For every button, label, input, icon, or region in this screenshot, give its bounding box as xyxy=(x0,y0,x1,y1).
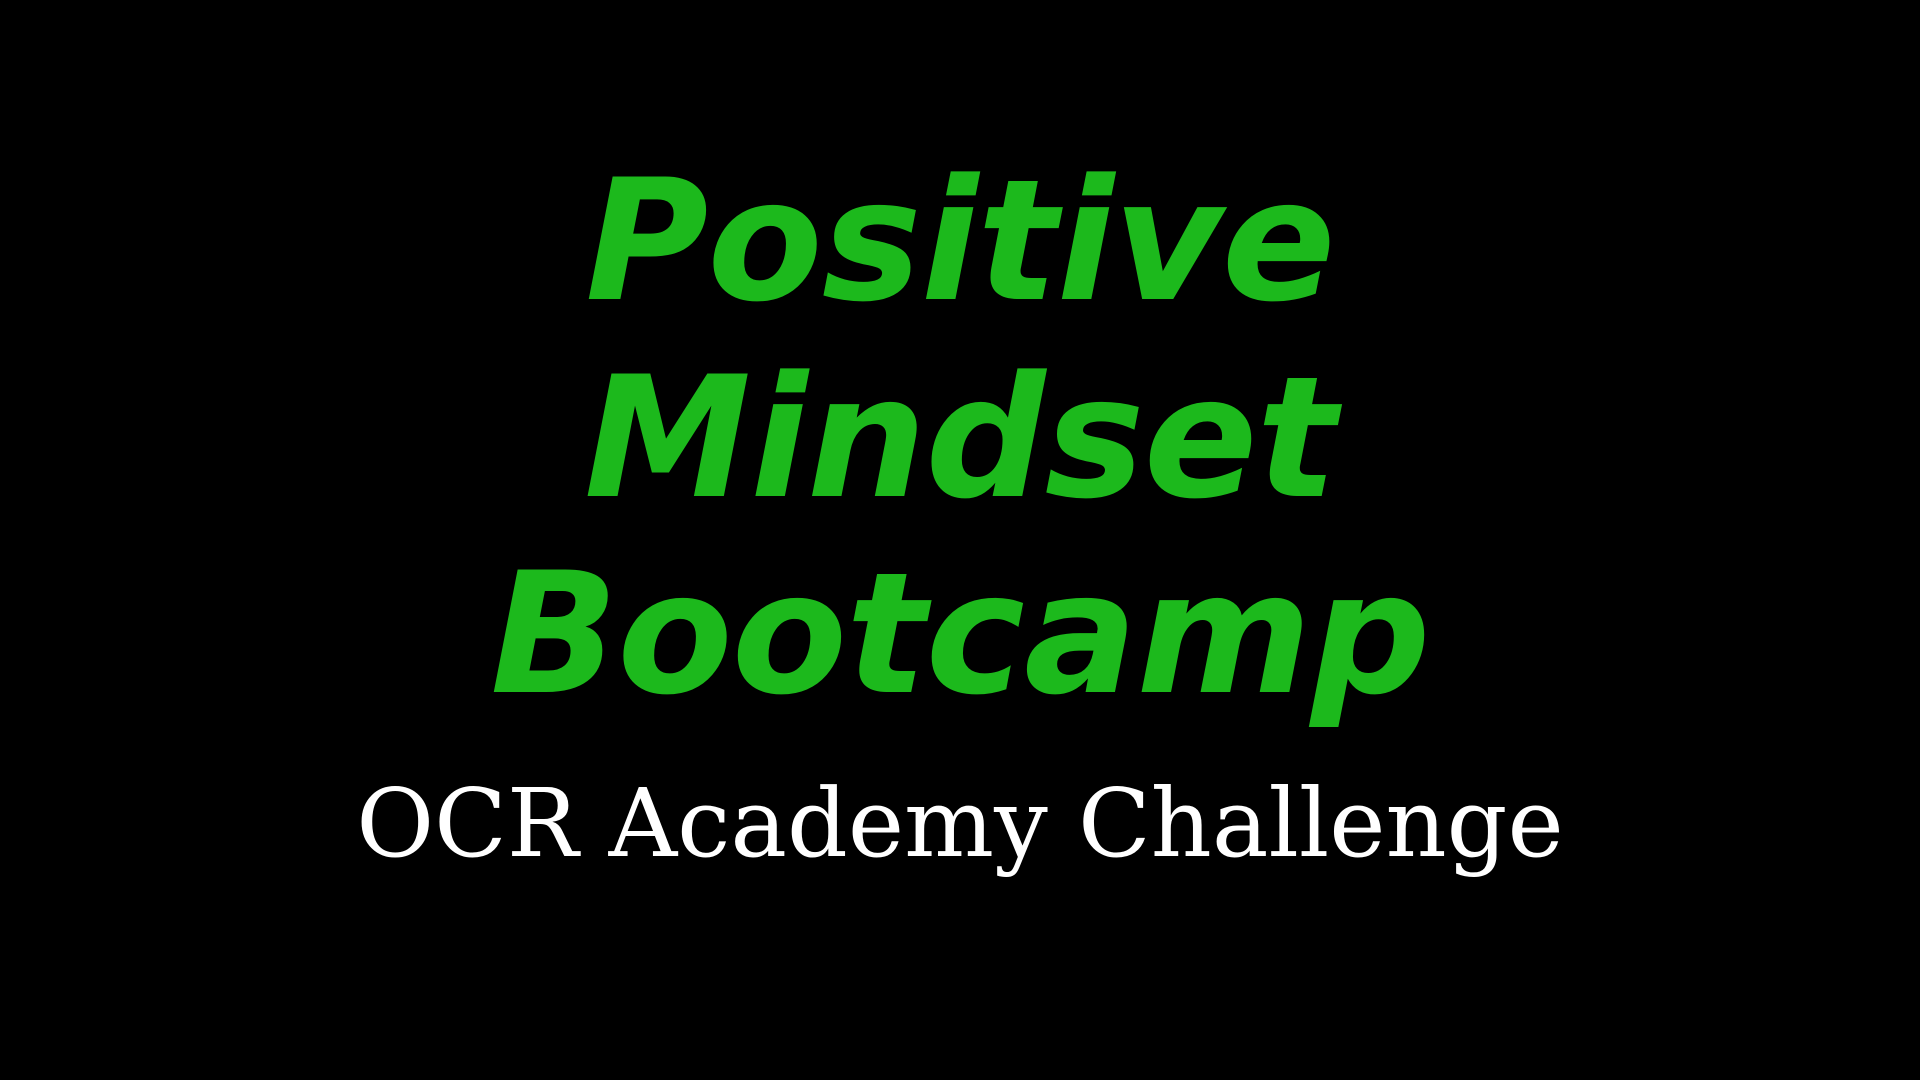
slide-title-line-1: Positive Mindset xyxy=(210,143,1710,536)
slide-title-line-2: Bootcamp xyxy=(210,536,1710,733)
title-block: Positive Mindset Bootcamp OCR Academy Ch… xyxy=(0,143,1920,881)
slide-subtitle: OCR Academy Challenge xyxy=(210,767,1710,881)
slide-canvas: Positive Mindset Bootcamp OCR Academy Ch… xyxy=(0,0,1920,1080)
slide-title: Positive Mindset Bootcamp xyxy=(210,143,1710,733)
